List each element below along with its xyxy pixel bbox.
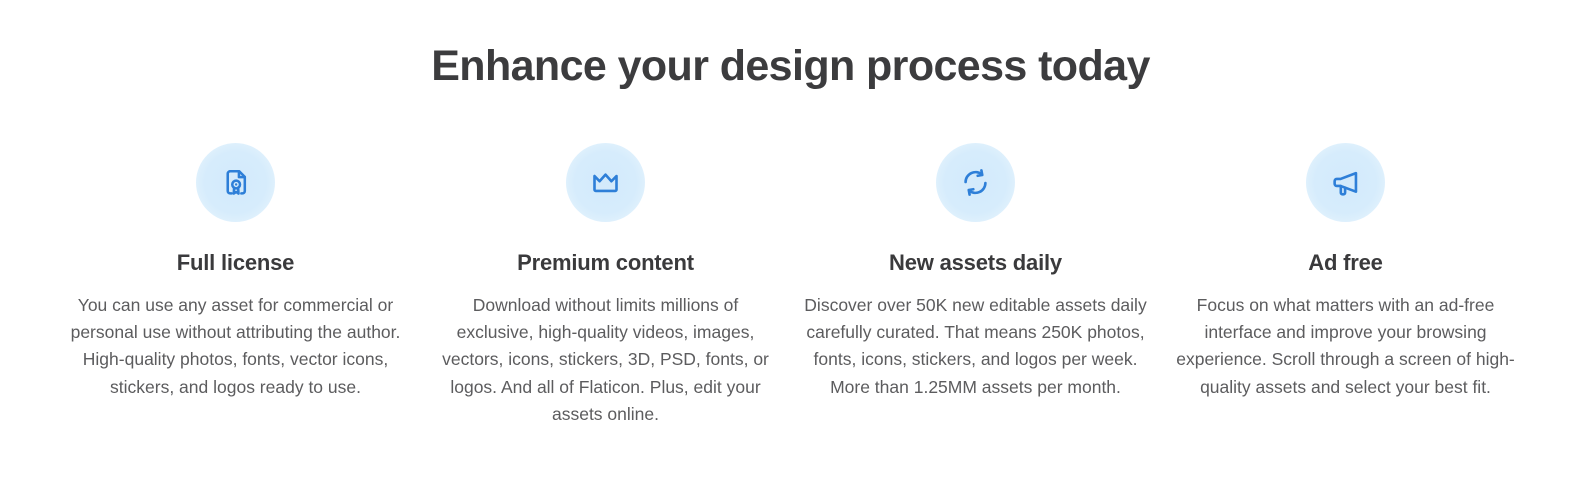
crown-icon: [589, 166, 622, 199]
feature-description: You can use any asset for commercial or …: [63, 292, 409, 401]
refresh-sync-icon: [959, 166, 992, 199]
feature-title: New assets daily: [889, 250, 1062, 276]
icon-badge: [196, 143, 275, 222]
feature-description: Download without limits millions of excl…: [433, 292, 779, 428]
feature-title: Ad free: [1308, 250, 1382, 276]
feature-item-full-license: Full license You can use any asset for c…: [51, 143, 421, 401]
feature-title: Full license: [177, 250, 294, 276]
icon-badge: [566, 143, 645, 222]
certificate-document-icon: [220, 167, 252, 199]
icon-badge: [1306, 143, 1385, 222]
feature-description: Focus on what matters with an ad-free in…: [1173, 292, 1519, 401]
features-section: Enhance your design process today Full l…: [0, 0, 1581, 492]
feature-list: Full license You can use any asset for c…: [0, 143, 1581, 428]
feature-description: Discover over 50K new editable assets da…: [803, 292, 1149, 401]
megaphone-icon: [1329, 166, 1362, 199]
icon-badge: [936, 143, 1015, 222]
feature-item-premium-content: Premium content Download without limits …: [421, 143, 791, 428]
feature-item-new-assets-daily: New assets daily Discover over 50K new e…: [791, 143, 1161, 401]
feature-title: Premium content: [517, 250, 694, 276]
page-title: Enhance your design process today: [431, 42, 1150, 91]
feature-item-ad-free: Ad free Focus on what matters with an ad…: [1161, 143, 1531, 401]
